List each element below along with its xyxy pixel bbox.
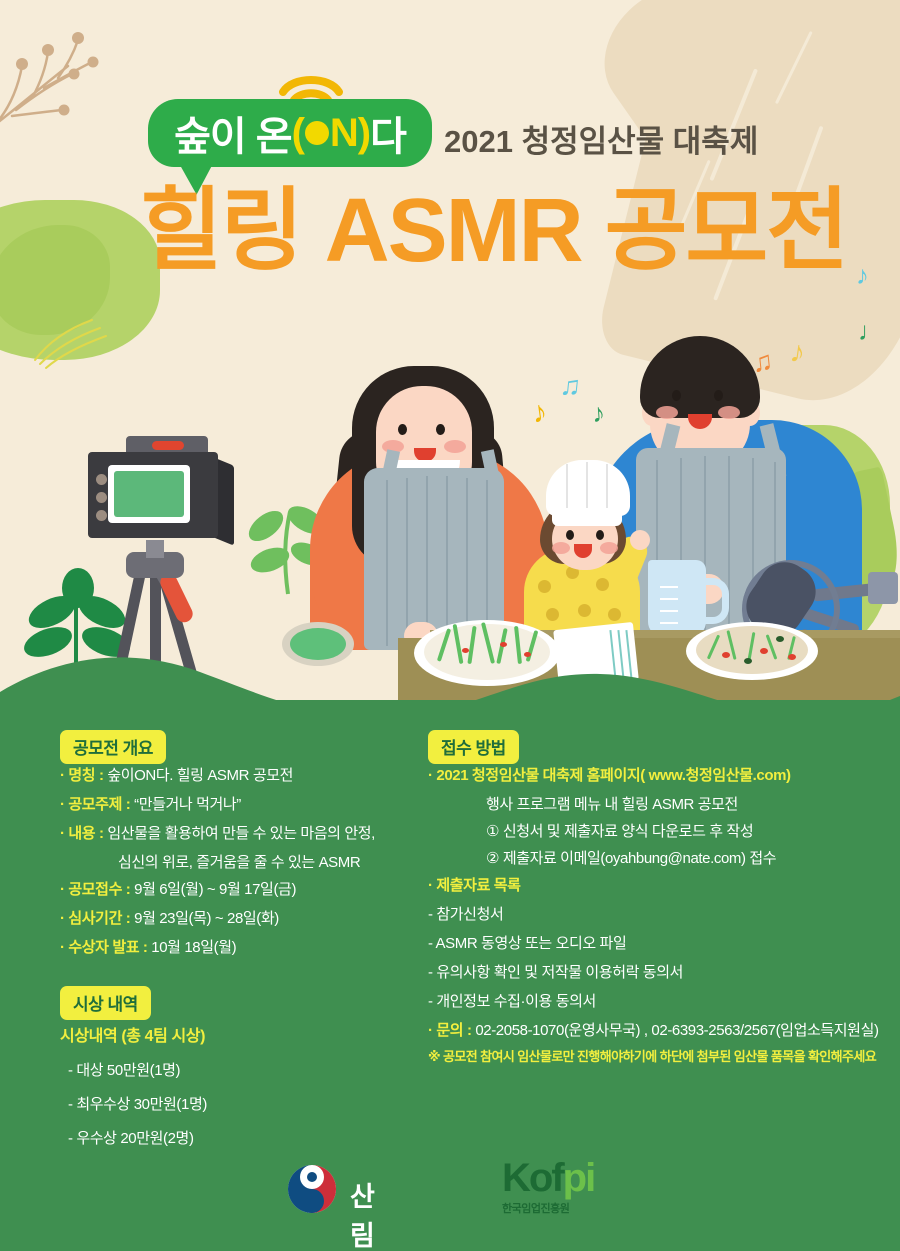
camera-record-light	[152, 441, 184, 450]
item-value: 행사 프로그램 메뉴 내 힐링 ASMR 공모전	[486, 796, 738, 813]
badge-post: 다	[370, 104, 406, 162]
item-sep: :	[95, 825, 107, 842]
item-value: 02-2058-1070(운영사무국) , 02-6393-2563/2567(…	[475, 1022, 878, 1039]
item-sep: :	[122, 796, 134, 813]
item-value: ① 신청서 및 제출자료 양식 다운로드 후 작성	[486, 823, 753, 840]
item-sep: :	[122, 910, 134, 927]
wifi-icon	[277, 62, 345, 104]
item-key: 공모접수	[68, 881, 122, 898]
kofpi-wordmark: Kofpi	[502, 1158, 622, 1198]
item-sep: :	[95, 767, 107, 784]
item-key: 공모주제	[68, 796, 122, 813]
chip-apply: 접수 방법	[428, 730, 519, 764]
item-value: 심신의 위로, 즐거움을 줄 수 있는 ASMR	[118, 854, 360, 871]
badge-pre: 숲이 온	[174, 104, 292, 162]
logo-kofpi: Kofpi 한국임업진흥원	[502, 1158, 622, 1216]
list-item: · 제출자료 목록	[428, 878, 878, 893]
list-item: · 공모접수 : 9월 6일(월) ~ 9월 17일(금)	[60, 882, 420, 897]
badge-paren-open: (	[292, 111, 304, 156]
overview-list: · 명칭 : 숲이ON다. 힐링 ASMR 공모전· 공모주제 : “만들거나 …	[60, 768, 420, 969]
item-key: 심사기간	[68, 910, 122, 927]
item-value: - 유의사항 확인 및 저작물 이용허락 동의서	[428, 964, 683, 981]
music-note-icon: ♫	[559, 371, 583, 401]
list-item: ② 제출자료 이메일(oyahbung@nate.com) 접수	[428, 851, 878, 866]
page-title: 힐링 ASMR 공모전	[140, 186, 820, 276]
item-value: - ASMR 동영상 또는 오디오 파일	[428, 935, 626, 952]
item-value: 10월 18일(월)	[151, 939, 236, 956]
list-item: · 심사기간 : 9월 23일(목) ~ 28일(화)	[60, 911, 420, 926]
awards-block: 시상내역 (총 4팀 시상) - 대상 50만원(1명)- 최우수상 30만원(…	[60, 1022, 420, 1161]
award-item: - 최우수상 30만원(1명)	[60, 1093, 420, 1114]
badge-on-dot	[305, 121, 329, 145]
list-item: ① 신청서 및 제출자료 양식 다운로드 후 작성	[428, 824, 878, 839]
list-item: · 문의 : 02-2058-1070(운영사무국) , 02-6393-256…	[428, 1023, 878, 1038]
forest-service-label: 산림청	[350, 1175, 374, 1251]
list-item: - 참가신청서	[428, 907, 878, 922]
poster-root: 숲이 온 ( N ) 다 2021 청정임산물 대축제 힐링 ASMR 공모전 …	[0, 0, 900, 1251]
awards-items: - 대상 50만원(1명)- 최우수상 30만원(1명)- 우수상 20만원(2…	[60, 1059, 420, 1148]
awards-heading: 시상내역 (총 4팀 시상)	[60, 1022, 420, 1046]
kofpi-of: of	[529, 1156, 563, 1200]
list-item: - 개인정보 수집·이용 동의서	[428, 994, 878, 1009]
list-item: · 수상자 발표 : 10월 18일(월)	[60, 940, 420, 955]
item-value: “만들거나 먹거나”	[134, 796, 241, 813]
list-item: 심신의 위로, 즐거움을 줄 수 있는 ASMR	[60, 855, 420, 870]
music-note-icon: ♪	[591, 400, 606, 427]
grass-sprig-icon	[30, 300, 120, 370]
list-item: - ASMR 동영상 또는 오디오 파일	[428, 936, 878, 951]
item-key: 제출자료 목록	[436, 877, 520, 894]
list-item: · 공모주제 : “만들거나 먹거나”	[60, 797, 420, 812]
item-value: 임산물을 활용하여 만들 수 있는 마음의 안정,	[107, 825, 375, 842]
award-item: - 우수상 20만원(2명)	[60, 1127, 420, 1148]
kofpi-sublabel: 한국임업진흥원	[502, 1200, 622, 1216]
badge-paren-close: )	[358, 111, 370, 156]
list-item: · 내용 : 임산물을 활용하여 만들 수 있는 마음의 안정,	[60, 826, 420, 841]
item-value: - 참가신청서	[428, 906, 503, 923]
item-key: 명칭	[68, 767, 95, 784]
chip-overview: 공모전 개요	[60, 730, 166, 764]
item-key: 내용	[68, 825, 95, 842]
item-key: 문의	[436, 1022, 463, 1039]
badge-on-letter: N	[330, 111, 358, 156]
item-sep: :	[463, 1022, 475, 1039]
badge-text: 숲이 온 ( N ) 다	[148, 99, 432, 167]
footnote: ※ 공모전 참여시 임산물로만 진행해야하기에 하단에 첨부된 임산물 품목을 …	[428, 1046, 876, 1065]
list-item: · 명칭 : 숲이ON다. 힐링 ASMR 공모전	[60, 768, 420, 783]
list-item: 행사 프로그램 메뉴 내 힐링 ASMR 공모전	[428, 797, 878, 812]
taegeuk-icon	[286, 1163, 338, 1215]
camera-screen	[114, 471, 184, 517]
item-value: 9월 23일(목) ~ 28일(화)	[134, 910, 279, 927]
item-value: 숲이ON다. 힐링 ASMR 공모전	[107, 767, 293, 784]
item-key: 수상자 발표	[68, 939, 139, 956]
chip-awards: 시상 내역	[60, 986, 151, 1020]
kofpi-k: K	[502, 1156, 529, 1200]
item-value: 9월 6일(월) ~ 9월 17일(금)	[134, 881, 296, 898]
item-value: - 개인정보 수집·이용 동의서	[428, 993, 596, 1010]
festival-subtitle: 2021 청정임산물 대축제	[444, 116, 758, 161]
list-item: - 유의사항 확인 및 저작물 이용허락 동의서	[428, 965, 878, 980]
list-item: · 2021 청정임산물 대축제 홈페이지( www.청정임산물.com)	[428, 768, 878, 783]
award-item: - 대상 50만원(1명)	[60, 1059, 420, 1080]
music-note-icon: ♩	[858, 318, 884, 344]
music-note-icon: ♪	[856, 262, 869, 288]
item-key: 2021 청정임산물 대축제 홈페이지( www.청정임산물.com)	[436, 767, 790, 784]
apply-list: · 2021 청정임산물 대축제 홈페이지( www.청정임산물.com)행사 …	[428, 768, 878, 1052]
item-sep: :	[122, 881, 134, 898]
item-value: ② 제출자료 이메일(oyahbung@nate.com) 접수	[486, 850, 776, 867]
kofpi-pi: pi	[563, 1156, 595, 1200]
item-sep: :	[139, 939, 151, 956]
